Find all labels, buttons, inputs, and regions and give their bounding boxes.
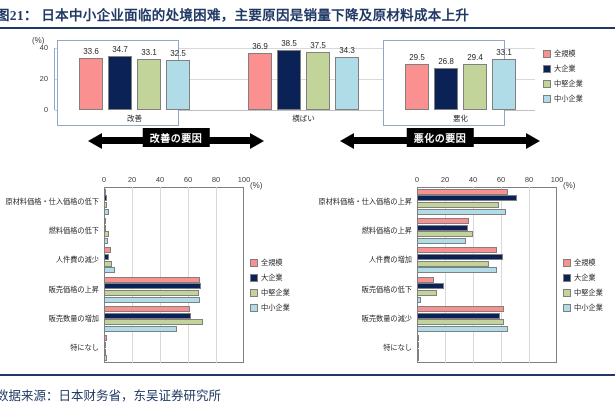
x-tick-40: 40 xyxy=(149,175,171,184)
legend-item-1: 全規模 xyxy=(543,46,583,61)
bar-横ばい-中堅企業 xyxy=(306,52,330,110)
category-label-2: 燃料価格の低下 xyxy=(0,226,99,236)
bar-特になし-中小企業 xyxy=(104,355,107,361)
bar-value-横ばい-中堅企業: 37.5 xyxy=(303,41,333,50)
category-label-5: 販売数量の減少 xyxy=(303,314,412,324)
legend-label-1: 全規模 xyxy=(261,258,283,268)
legend-item-2: 大企業 xyxy=(563,270,603,285)
top-chart-legend: 全規模大企業中堅企業中小企業 xyxy=(543,46,583,106)
bar-value-横ばい-全規模: 36.9 xyxy=(245,42,275,51)
bar-人件費の減少-中小企業 xyxy=(104,267,115,273)
legend-item-4: 中小企業 xyxy=(563,300,603,315)
y-axis-line xyxy=(54,48,55,110)
bar-value-改善-中堅企業: 33.1 xyxy=(134,48,164,57)
legend-swatch-1 xyxy=(543,50,551,58)
legend-swatch-1 xyxy=(563,259,571,267)
bar-横ばい-全規模 xyxy=(248,53,272,110)
header-divider xyxy=(0,27,615,29)
legend-label-1: 全規模 xyxy=(554,49,576,59)
legend-label-2: 大企業 xyxy=(261,273,283,283)
bar-販売価格の低下-全規模 xyxy=(417,277,434,283)
plot-frame xyxy=(104,187,244,363)
legend-label-2: 大企業 xyxy=(574,273,596,283)
x-axis-unit: (%) xyxy=(250,181,262,190)
bar-特になし-全規模 xyxy=(417,335,419,341)
legend-item-4: 中小企業 xyxy=(543,91,583,106)
bar-横ばい-中小企業 xyxy=(335,57,359,110)
bar-悪化-中小企業 xyxy=(492,59,516,110)
hchart-left-legend: 全規模大企業中堅企業中小企業 xyxy=(250,255,290,315)
bar-value-悪化-全規模: 29.5 xyxy=(402,53,432,62)
footer-divider xyxy=(0,374,615,376)
bar-悪化-中堅企業 xyxy=(463,64,487,110)
category-label-4: 販売価格の低下 xyxy=(303,285,412,295)
bar-特になし-大企業 xyxy=(417,342,419,348)
legend-swatch-2 xyxy=(250,274,258,282)
legend-swatch-1 xyxy=(250,259,258,267)
bar-特になし-中堅企業 xyxy=(417,349,419,355)
page-title: 图21： 日本中小企业面临的处境困难，主要原因是销量下降及原材料成本上升 xyxy=(0,4,606,24)
gridline-80 xyxy=(216,187,217,363)
legend-swatch-3 xyxy=(563,289,571,297)
category-label-4: 販売価格の上昇 xyxy=(0,285,99,295)
bar-特になし-中小企業 xyxy=(417,355,419,361)
bar-燃料価格の低下-全規模 xyxy=(104,218,106,224)
legend-item-1: 全規模 xyxy=(250,255,290,270)
x-tick-60: 60 xyxy=(177,175,199,184)
legend-item-2: 大企業 xyxy=(250,270,290,285)
bar-改善-中堅企業 xyxy=(137,59,161,110)
bar-value-改善-大企業: 34.7 xyxy=(105,45,135,54)
bar-販売価格の低下-大企業 xyxy=(417,283,444,289)
x-tick-0: 0 xyxy=(406,175,428,184)
bar-特になし-大企業 xyxy=(104,342,106,348)
bar-燃料価格の上昇-全規模 xyxy=(417,218,469,224)
group-label-悪化: 悪化 xyxy=(405,113,516,124)
gridline-80 xyxy=(529,187,530,363)
group-label-横ばい: 横ばい xyxy=(248,113,359,124)
bar-販売数量の減少-中堅企業 xyxy=(417,319,504,325)
top-column-chart: (%)0204033.634.733.132.5改善36.938.537.534… xyxy=(0,36,615,128)
legend-item-1: 全規模 xyxy=(563,255,603,270)
category-label-2: 燃料価格の上昇 xyxy=(303,226,412,236)
legend-label-2: 大企業 xyxy=(554,64,576,74)
bar-燃料価格の低下-中堅企業 xyxy=(104,231,109,237)
legend-item-3: 中堅企業 xyxy=(543,76,583,91)
bar-原材料価格・仕入価格の上昇-中堅企業 xyxy=(417,202,499,208)
bar-value-悪化-中小企業: 33.1 xyxy=(489,48,519,57)
legend-label-4: 中小企業 xyxy=(261,303,290,313)
bar-販売価格の上昇-中小企業 xyxy=(104,297,200,303)
bar-販売数量の減少-中小企業 xyxy=(417,326,508,332)
source-note: 数据来源：日本财务省，东吴证券研究所 xyxy=(0,385,606,404)
bar-value-改善-中小企業: 32.5 xyxy=(163,49,193,58)
category-label-6: 特になし xyxy=(0,343,99,353)
bar-原材料価格・仕入価格の低下-中小企業 xyxy=(104,209,109,215)
category-label-1: 原材料価格・仕入価格の低下 xyxy=(0,197,99,207)
banner-plate: 改善の要因 xyxy=(143,128,210,147)
x-tick-20: 20 xyxy=(434,175,456,184)
banner-bar-right xyxy=(468,137,528,144)
legend-swatch-4 xyxy=(563,304,571,312)
banner-bar-left xyxy=(352,137,412,144)
x-tick-80: 80 xyxy=(205,175,227,184)
legend-label-1: 全規模 xyxy=(574,258,596,268)
bar-燃料価格の上昇-大企業 xyxy=(417,225,468,231)
category-label-5: 販売数量の増加 xyxy=(0,314,99,324)
legend-item-3: 中堅企業 xyxy=(563,285,603,300)
improvement-banner: 改善の要因 xyxy=(88,128,264,150)
category-label-1: 原材料価格・仕入価格の上昇 xyxy=(303,197,412,207)
bar-特になし-全規模 xyxy=(104,335,107,341)
bar-人件費の増加-全規模 xyxy=(417,247,497,253)
bar-販売数量の減少-大企業 xyxy=(417,313,500,319)
gridline-60 xyxy=(188,187,189,363)
x-axis-unit: (%) xyxy=(563,181,575,190)
x-tick-40: 40 xyxy=(462,175,484,184)
legend-swatch-3 xyxy=(250,289,258,297)
category-label-3: 人件費の増加 xyxy=(303,255,412,265)
bar-販売価格の上昇-大企業 xyxy=(104,283,201,289)
banner-bar-left xyxy=(100,137,148,144)
x-tick-0: 0 xyxy=(93,175,115,184)
bar-原材料価格・仕入価格の上昇-大企業 xyxy=(417,195,517,201)
legend-label-3: 中堅企業 xyxy=(574,288,603,298)
deterioration-factors-chart: 020406080100(%)原材料価格・仕入価格の上昇燃料価格の上昇人件費の増… xyxy=(303,170,615,370)
legend-label-4: 中小企業 xyxy=(554,94,583,104)
legend-item-4: 中小企業 xyxy=(250,300,290,315)
bar-value-悪化-中堅企業: 29.4 xyxy=(460,53,490,62)
bar-改善-大企業 xyxy=(108,56,132,110)
bar-販売数量の減少-全規模 xyxy=(417,306,504,312)
legend-item-3: 中堅企業 xyxy=(250,285,290,300)
bar-原材料価格・仕入価格の低下-大企業 xyxy=(104,195,107,201)
legend-swatch-2 xyxy=(543,65,551,73)
bar-改善-全規模 xyxy=(79,58,103,110)
bar-特になし-中堅企業 xyxy=(104,349,106,355)
y-tick-40: 40 xyxy=(30,43,48,52)
bar-販売価格の低下-中堅企業 xyxy=(417,290,437,296)
bar-value-改善-全規模: 33.6 xyxy=(76,47,106,56)
bar-悪化-大企業 xyxy=(434,68,458,110)
x-tick-20: 20 xyxy=(121,175,143,184)
group-label-改善: 改善 xyxy=(79,113,190,124)
hchart-right-legend: 全規模大企業中堅企業中小企業 xyxy=(563,255,603,315)
bar-人件費の減少-大企業 xyxy=(104,254,109,260)
legend-swatch-3 xyxy=(543,80,551,88)
bar-燃料価格の低下-大企業 xyxy=(104,225,106,231)
bar-販売価格の低下-中小企業 xyxy=(417,297,421,303)
bar-燃料価格の上昇-中小企業 xyxy=(417,238,466,244)
bar-横ばい-大企業 xyxy=(277,50,301,110)
bar-原材料価格・仕入価格の上昇-中小企業 xyxy=(417,209,506,215)
bar-改善-中小企業 xyxy=(166,60,190,110)
bar-人件費の増加-大企業 xyxy=(417,254,503,260)
banner-plate: 悪化の要因 xyxy=(407,128,474,147)
legend-swatch-4 xyxy=(543,95,551,103)
bar-販売数量の増加-大企業 xyxy=(104,313,191,319)
banner-arrow-right xyxy=(250,133,264,149)
banner-bar-right xyxy=(204,137,252,144)
gridline-20 xyxy=(132,187,133,363)
bar-販売価格の上昇-中堅企業 xyxy=(104,290,199,296)
bar-悪化-全規模 xyxy=(405,64,429,110)
bar-販売数量の増加-中小企業 xyxy=(104,326,177,332)
banner-arrow-right xyxy=(526,133,540,149)
x-tick-60: 60 xyxy=(490,175,512,184)
y-tick-0: 0 xyxy=(30,105,48,114)
category-label-6: 特になし xyxy=(303,343,412,353)
bar-人件費の減少-中堅企業 xyxy=(104,261,112,267)
bar-原材料価格・仕入価格の上昇-全規模 xyxy=(417,189,508,195)
figure-page: 图21： 日本中小企业面临的处境困难，主要原因是销量下降及原材料成本上升 (%)… xyxy=(0,0,615,412)
bar-燃料価格の低下-中小企業 xyxy=(104,238,108,244)
bar-販売数量の増加-全規模 xyxy=(104,306,190,312)
bar-value-横ばい-中小企業: 34.3 xyxy=(332,46,362,55)
bar-人件費の増加-中小企業 xyxy=(417,267,497,273)
improvement-factors-chart: 020406080100(%)原材料価格・仕入価格の低下燃料価格の低下人件費の減… xyxy=(0,170,310,370)
gridline-40 xyxy=(160,187,161,363)
bar-原材料価格・仕入価格の低下-全規模 xyxy=(104,189,106,195)
legend-swatch-4 xyxy=(250,304,258,312)
bar-人件費の減少-全規模 xyxy=(104,247,111,253)
bar-原材料価格・仕入価格の低下-中堅企業 xyxy=(104,202,107,208)
category-label-3: 人件費の減少 xyxy=(0,255,99,265)
legend-label-4: 中小企業 xyxy=(574,303,603,313)
x-tick-80: 80 xyxy=(518,175,540,184)
deterioration-banner: 悪化の要因 xyxy=(340,128,540,150)
bar-燃料価格の上昇-中堅企業 xyxy=(417,231,473,237)
bar-人件費の増加-中堅企業 xyxy=(417,261,489,267)
legend-label-3: 中堅企業 xyxy=(554,79,583,89)
bar-販売数量の増加-中堅企業 xyxy=(104,319,203,325)
legend-label-3: 中堅企業 xyxy=(261,288,290,298)
legend-item-2: 大企業 xyxy=(543,61,583,76)
bar-販売価格の上昇-全規模 xyxy=(104,277,200,283)
legend-swatch-2 xyxy=(563,274,571,282)
bar-value-横ばい-大企業: 38.5 xyxy=(274,39,304,48)
y-tick-20: 20 xyxy=(30,74,48,83)
bar-value-悪化-大企業: 26.8 xyxy=(431,57,461,66)
